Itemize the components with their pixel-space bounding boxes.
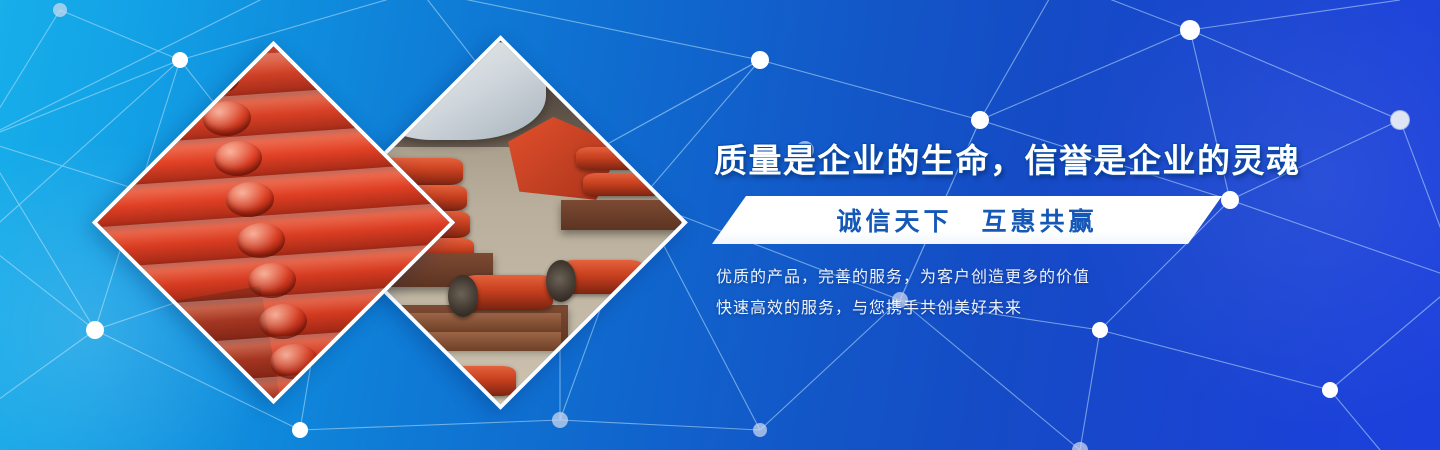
slogan-ribbon: 诚信天下 互惠共赢 <box>712 196 1222 244</box>
promo-banner: 质量是企业的生命，信誉是企业的灵魂 诚信天下 互惠共赢 优质的产品，完善的服务，… <box>0 0 1440 450</box>
subtitle-line-1: 优质的产品，完善的服务，为客户创造更多的价值 <box>716 262 1236 293</box>
banner-headline: 质量是企业的生命，信誉是企业的灵魂 <box>714 138 1234 184</box>
banner-subtitle: 优质的产品，完善的服务，为客户创造更多的价值 快速高效的服务，与您携手共创美好未… <box>716 262 1236 324</box>
subtitle-line-2: 快速高效的服务，与您携手共创美好未来 <box>716 293 1236 324</box>
slogan-ribbon-text: 诚信天下 互惠共赢 <box>712 196 1222 244</box>
